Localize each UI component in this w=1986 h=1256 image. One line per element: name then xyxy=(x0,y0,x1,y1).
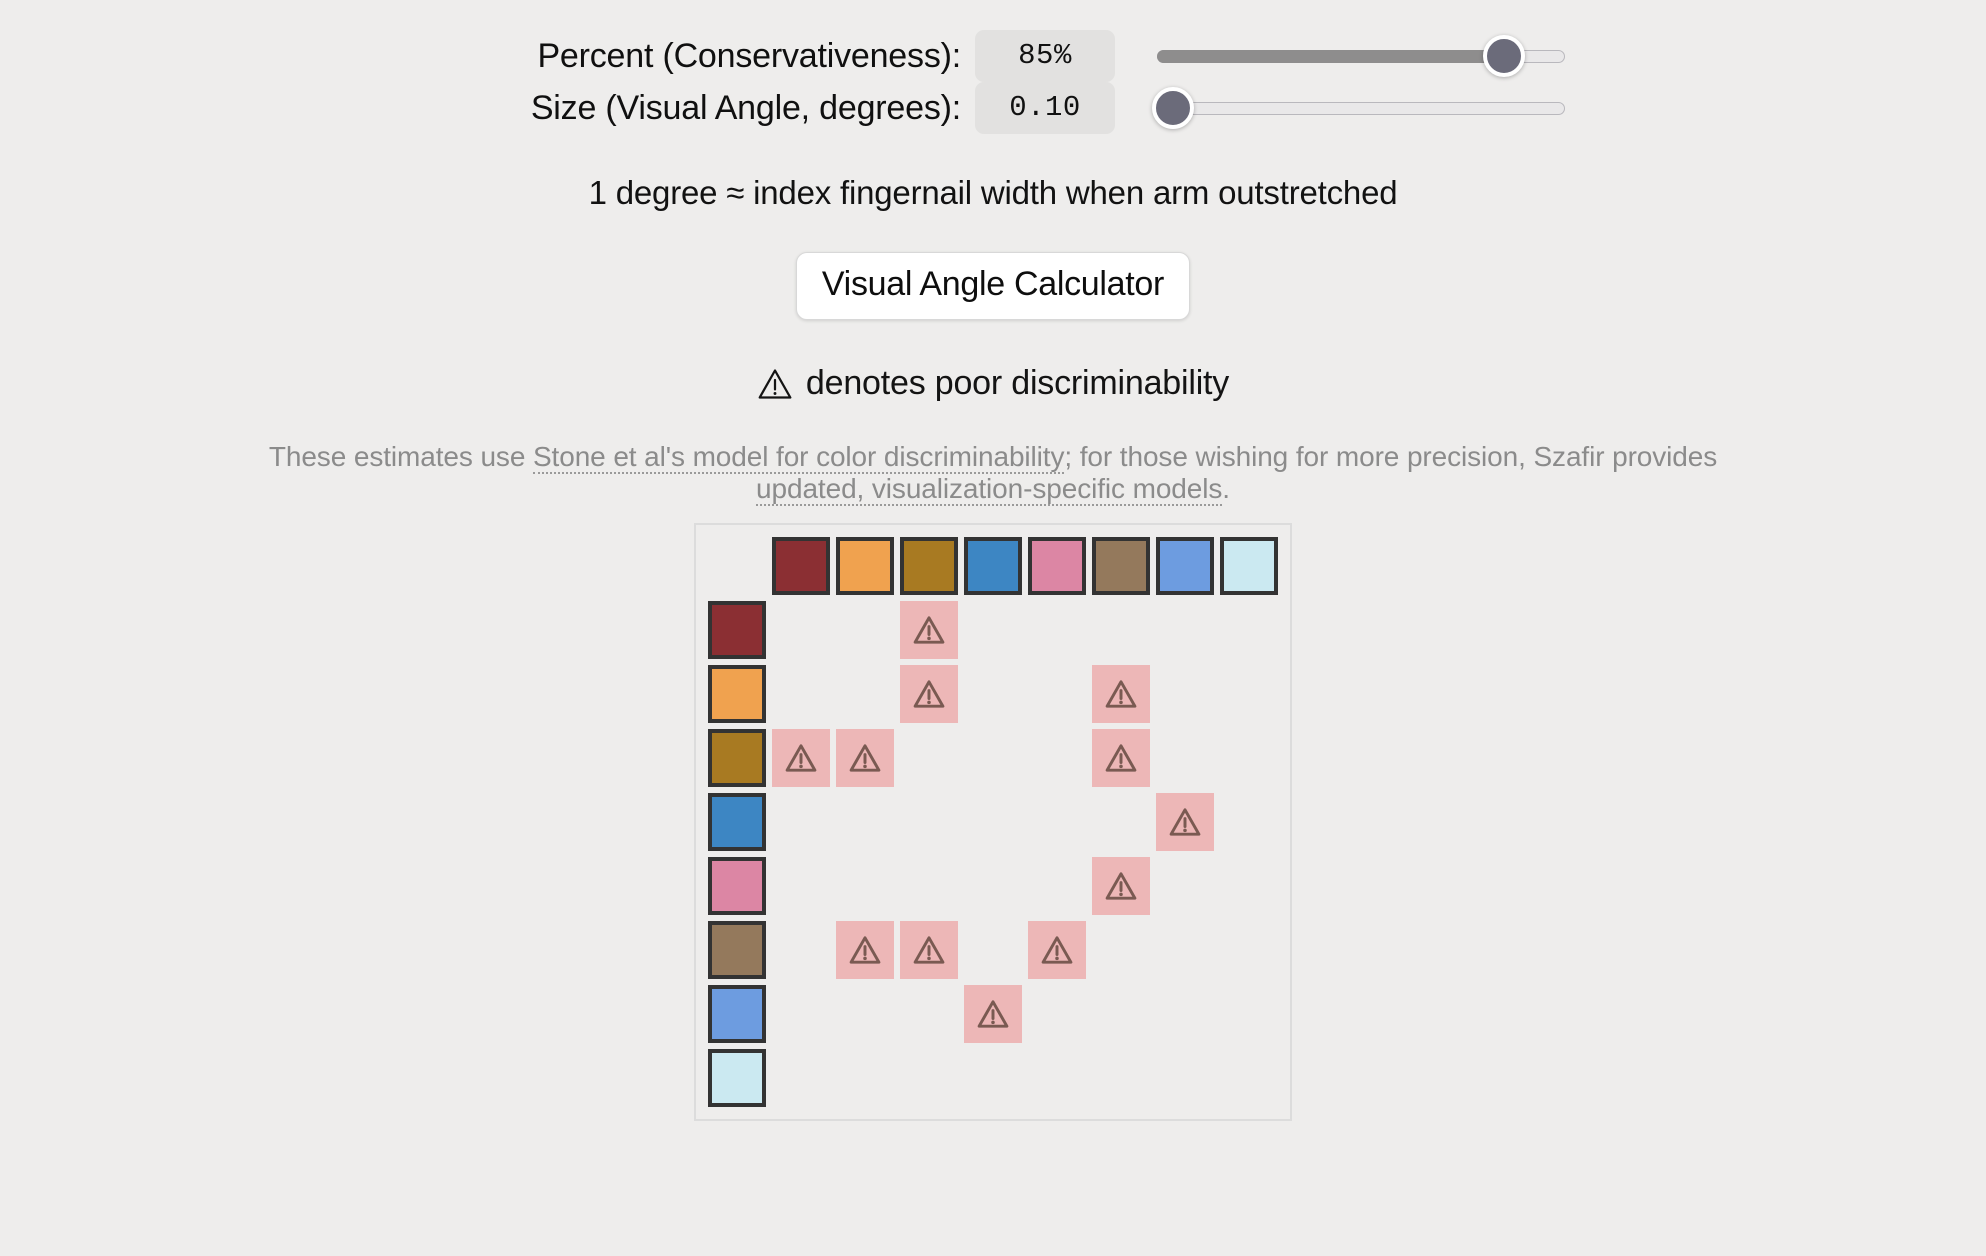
matrix-cell-empty xyxy=(1156,601,1214,659)
matrix-cell-empty xyxy=(1220,985,1278,1043)
matrix-cell-warning xyxy=(900,921,958,979)
matrix-cell-warning xyxy=(1092,857,1150,915)
matrix-cell-empty xyxy=(1220,665,1278,723)
citation-middle: ; for those wishing for more precision, … xyxy=(1064,441,1717,472)
color-swatch xyxy=(964,537,1022,595)
stone-model-link[interactable]: Stone et al's model for color discrimina… xyxy=(533,441,1064,474)
matrix-cell-empty xyxy=(900,985,958,1043)
size-control-row: Size (Visual Angle, degrees): 0.10 xyxy=(193,82,1793,134)
percent-slider-thumb[interactable] xyxy=(1483,35,1525,77)
matrix-cell-empty xyxy=(1156,985,1214,1043)
matrix-row xyxy=(708,857,1278,915)
warning-triangle-icon xyxy=(900,665,958,723)
matrix-cell-warning xyxy=(772,729,830,787)
warning-legend-text: denotes poor discriminability xyxy=(806,364,1229,403)
color-swatch xyxy=(1220,537,1278,595)
matrix-row xyxy=(708,601,1278,659)
matrix-cell-warning xyxy=(836,921,894,979)
matrix-cell-empty xyxy=(964,921,1022,979)
matrix-cell-empty xyxy=(1220,793,1278,851)
warning-legend: denotes poor discriminability xyxy=(757,364,1229,403)
matrix-row xyxy=(708,1049,1278,1107)
warning-triangle-icon xyxy=(1028,921,1086,979)
matrix-cell-empty xyxy=(964,729,1022,787)
warning-triangle-icon xyxy=(836,729,894,787)
size-value-badge: 0.10 xyxy=(975,82,1115,134)
visual-angle-calculator-button[interactable]: Visual Angle Calculator xyxy=(796,252,1190,320)
matrix-cell-empty xyxy=(836,1049,894,1107)
matrix-cell-empty xyxy=(1220,729,1278,787)
matrix-cell-empty xyxy=(1028,857,1086,915)
color-swatch xyxy=(1028,537,1086,595)
matrix-cell-empty xyxy=(772,601,830,659)
matrix-cell-empty xyxy=(964,857,1022,915)
matrix-cell-empty xyxy=(772,665,830,723)
matrix-cell-empty xyxy=(1092,793,1150,851)
matrix-column-swatch-brown xyxy=(1092,537,1150,595)
percent-slider[interactable] xyxy=(1157,36,1565,76)
color-swatch xyxy=(708,601,766,659)
matrix-column-swatch-gold xyxy=(900,537,958,595)
warning-triangle-icon xyxy=(1092,729,1150,787)
matrix-cell-empty xyxy=(1220,921,1278,979)
matrix-row xyxy=(708,729,1278,787)
matrix-cell-empty xyxy=(1028,601,1086,659)
app-root: Percent (Conservativeness): 85% Size (Vi… xyxy=(0,0,1986,1256)
matrix-column-swatch-dark-red xyxy=(772,537,830,595)
matrix-column-swatch-pale-cyan xyxy=(1220,537,1278,595)
matrix-cell-empty xyxy=(1092,921,1150,979)
matrix-cell-empty xyxy=(900,857,958,915)
matrix-cell-empty xyxy=(1092,601,1150,659)
controls-section: Percent (Conservativeness): 85% Size (Vi… xyxy=(0,0,1986,134)
matrix-row xyxy=(708,921,1278,979)
matrix-cell-empty xyxy=(1156,665,1214,723)
matrix-cell-empty xyxy=(1028,729,1086,787)
matrix-cell-empty xyxy=(1220,1049,1278,1107)
warning-triangle-icon xyxy=(1092,857,1150,915)
matrix-cell-warning xyxy=(1092,665,1150,723)
warning-triangle-icon xyxy=(964,985,1022,1043)
size-label: Size (Visual Angle, degrees): xyxy=(421,89,975,128)
size-slider-track[interactable] xyxy=(1157,102,1565,115)
discriminability-matrix xyxy=(694,523,1292,1121)
matrix-cell-warning xyxy=(964,985,1022,1043)
matrix-cell-empty xyxy=(1028,665,1086,723)
matrix-cell-empty xyxy=(964,601,1022,659)
degree-note: 1 degree ≈ index fingernail width when a… xyxy=(589,174,1398,212)
matrix-column-swatch-orange xyxy=(836,537,894,595)
matrix-cell-warning xyxy=(900,665,958,723)
matrix-cell-empty xyxy=(964,793,1022,851)
color-swatch xyxy=(708,729,766,787)
matrix-cell-warning xyxy=(1156,793,1214,851)
matrix-cell-empty xyxy=(836,985,894,1043)
matrix-cell-empty xyxy=(1156,857,1214,915)
color-swatch xyxy=(708,921,766,979)
warning-triangle-icon xyxy=(900,601,958,659)
matrix-cell-empty xyxy=(836,665,894,723)
color-swatch xyxy=(1156,537,1214,595)
matrix-cell-warning xyxy=(1092,729,1150,787)
matrix-column-swatch-pink xyxy=(1028,537,1086,595)
percent-value-badge: 85% xyxy=(975,30,1115,82)
matrix-cell-empty xyxy=(772,921,830,979)
color-swatch xyxy=(708,985,766,1043)
color-swatch xyxy=(900,537,958,595)
matrix-cell-empty xyxy=(900,1049,958,1107)
matrix-cell-empty xyxy=(1156,1049,1214,1107)
matrix-header-row xyxy=(708,537,1278,595)
matrix-row xyxy=(708,665,1278,723)
matrix-row xyxy=(708,985,1278,1043)
matrix-cell-empty xyxy=(900,729,958,787)
matrix-cell-empty xyxy=(900,793,958,851)
matrix-row-swatch-gold xyxy=(708,729,766,787)
matrix-table xyxy=(702,531,1284,1113)
matrix-cell-empty xyxy=(772,793,830,851)
matrix-cell-empty xyxy=(1028,985,1086,1043)
matrix-row-swatch-pink xyxy=(708,857,766,915)
matrix-row xyxy=(708,793,1278,851)
size-slider[interactable] xyxy=(1157,88,1565,128)
matrix-cell-empty xyxy=(1092,985,1150,1043)
matrix-cell-empty xyxy=(964,1049,1022,1107)
citation-suffix: . xyxy=(1222,473,1230,504)
color-swatch xyxy=(708,1049,766,1107)
matrix-cell-empty xyxy=(772,857,830,915)
warning-triangle-icon xyxy=(1156,793,1214,851)
matrix-cell-warning xyxy=(1028,921,1086,979)
warning-triangle-icon xyxy=(900,921,958,979)
citation-text: These estimates use Stone et al's model … xyxy=(243,441,1743,505)
matrix-row-swatch-pale-cyan xyxy=(708,1049,766,1107)
color-swatch xyxy=(708,665,766,723)
percent-label: Percent (Conservativeness): xyxy=(421,37,975,76)
matrix-row-swatch-orange xyxy=(708,665,766,723)
warning-triangle-icon xyxy=(757,367,793,401)
warning-triangle-icon xyxy=(1092,665,1150,723)
color-swatch xyxy=(708,857,766,915)
szafir-model-link[interactable]: updated, visualization-specific models xyxy=(756,473,1222,506)
matrix-cell-empty xyxy=(836,793,894,851)
matrix-cell-empty xyxy=(1092,1049,1150,1107)
color-swatch xyxy=(708,793,766,851)
matrix-cell-empty xyxy=(772,985,830,1043)
matrix-row-swatch-light-blue xyxy=(708,985,766,1043)
matrix-cell-empty xyxy=(1156,921,1214,979)
matrix-column-swatch-blue xyxy=(964,537,1022,595)
warning-triangle-icon xyxy=(772,729,830,787)
color-swatch xyxy=(772,537,830,595)
matrix-cell-empty xyxy=(1220,601,1278,659)
citation-prefix: These estimates use xyxy=(269,441,533,472)
warning-triangle-icon xyxy=(836,921,894,979)
matrix-cell-warning xyxy=(836,729,894,787)
matrix-column-swatch-light-blue xyxy=(1156,537,1214,595)
matrix-cell-empty xyxy=(964,665,1022,723)
matrix-corner-cell xyxy=(708,537,766,595)
size-slider-thumb[interactable] xyxy=(1152,87,1194,129)
matrix-cell-empty xyxy=(1220,857,1278,915)
matrix-row-swatch-dark-red xyxy=(708,601,766,659)
matrix-cell-empty xyxy=(1028,1049,1086,1107)
matrix-cell-empty xyxy=(772,1049,830,1107)
matrix-cell-empty xyxy=(836,857,894,915)
matrix-row-swatch-blue xyxy=(708,793,766,851)
matrix-row-swatch-brown xyxy=(708,921,766,979)
color-swatch xyxy=(836,537,894,595)
matrix-cell-empty xyxy=(1156,729,1214,787)
matrix-cell-warning xyxy=(900,601,958,659)
color-swatch xyxy=(1092,537,1150,595)
matrix-cell-empty xyxy=(1028,793,1086,851)
percent-control-row: Percent (Conservativeness): 85% xyxy=(193,30,1793,82)
percent-slider-fill xyxy=(1157,50,1504,63)
matrix-cell-empty xyxy=(836,601,894,659)
